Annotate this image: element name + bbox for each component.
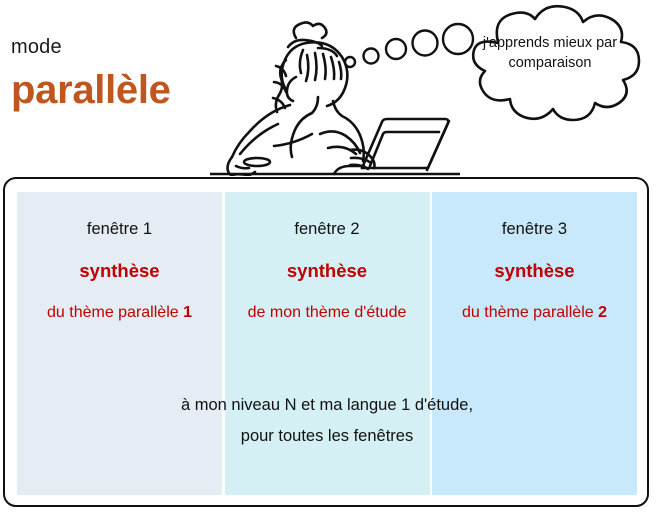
window-subtitle-text-1: du thème parallèle	[47, 304, 179, 321]
window-synthesis-2: synthèse	[225, 260, 430, 282]
mode-label: mode	[11, 36, 62, 59]
window-column-1[interactable]: fenêtre 1 synthèse du thème parallèle 1	[17, 192, 222, 495]
window-synthesis-1: synthèse	[17, 260, 222, 282]
mode-title: parallèle	[11, 68, 171, 113]
window-subtitle-text-3: du thème parallèle	[462, 304, 594, 321]
window-title-2: fenêtre 2	[225, 220, 430, 239]
window-synthesis-3: synthèse	[432, 260, 637, 282]
windows-columns: fenêtre 1 synthèse du thème parallèle 1 …	[17, 192, 637, 495]
window-column-3[interactable]: fenêtre 3 synthèse du thème parallèle 2	[432, 192, 637, 495]
thought-bubble-text: j'apprends mieux par comparaison	[470, 33, 630, 73]
diagram-canvas: mode parallèle	[0, 0, 657, 515]
window-subtitle-2: de mon thème d'étude	[225, 302, 430, 324]
window-column-2[interactable]: fenêtre 2 synthèse de mon thème d'étude	[225, 192, 430, 495]
window-emphasis-3: 2	[598, 304, 607, 321]
window-title-3: fenêtre 3	[432, 220, 637, 239]
window-title-1: fenêtre 1	[17, 220, 222, 239]
window-subtitle-3: du thème parallèle 2	[432, 302, 637, 324]
window-subtitle-text-2: de mon thème d'étude	[248, 304, 407, 321]
window-subtitle-1: du thème parallèle 1	[17, 302, 222, 324]
window-emphasis-1: 1	[183, 304, 192, 321]
